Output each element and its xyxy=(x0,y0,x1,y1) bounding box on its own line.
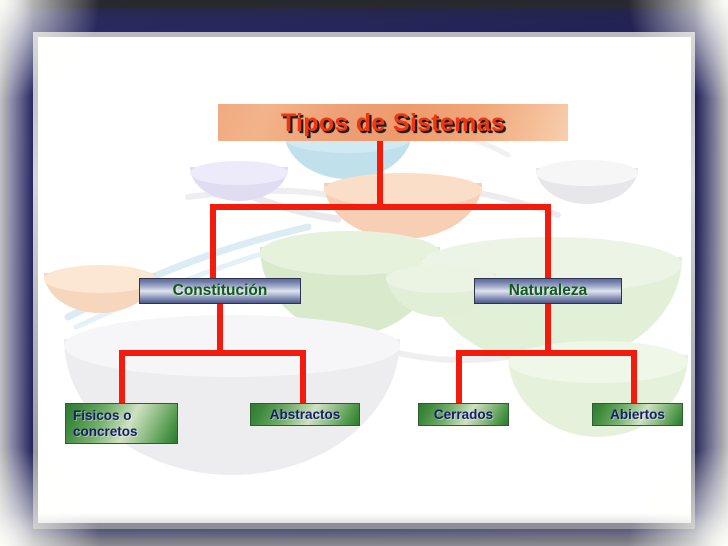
node-constitucion: Constitución xyxy=(139,278,301,304)
connector-level2-bar xyxy=(210,204,551,210)
connector-to-constitucion xyxy=(210,204,216,280)
node-abiertos: Abiertos xyxy=(592,403,683,426)
slide: Tipos de Sistemas Constitución Naturalez… xyxy=(0,0,728,546)
slide-canvas: Tipos de Sistemas Constitución Naturalez… xyxy=(38,37,691,523)
connector-to-naturaleza xyxy=(545,204,551,280)
diagram-title-node: Tipos de Sistemas xyxy=(218,104,568,141)
connector-to-abiertos xyxy=(631,350,637,405)
connector-to-cerrados xyxy=(456,350,462,405)
connector-naturaleza-down xyxy=(545,302,551,353)
connector-constitucion-bar xyxy=(119,350,306,356)
node-naturaleza: Naturaleza xyxy=(474,278,622,304)
connector-to-fisicos xyxy=(119,350,125,405)
node-fisicos-o-concretos: Físicos o concretos xyxy=(65,403,178,444)
connector-constitucion-down xyxy=(217,302,223,353)
connector-to-abstractos xyxy=(300,350,306,405)
node-cerrados: Cerrados xyxy=(418,403,509,426)
node-abstractos: Abstractos xyxy=(250,403,360,426)
connector-naturaleza-bar xyxy=(456,350,637,356)
connector-title-down xyxy=(377,137,383,205)
